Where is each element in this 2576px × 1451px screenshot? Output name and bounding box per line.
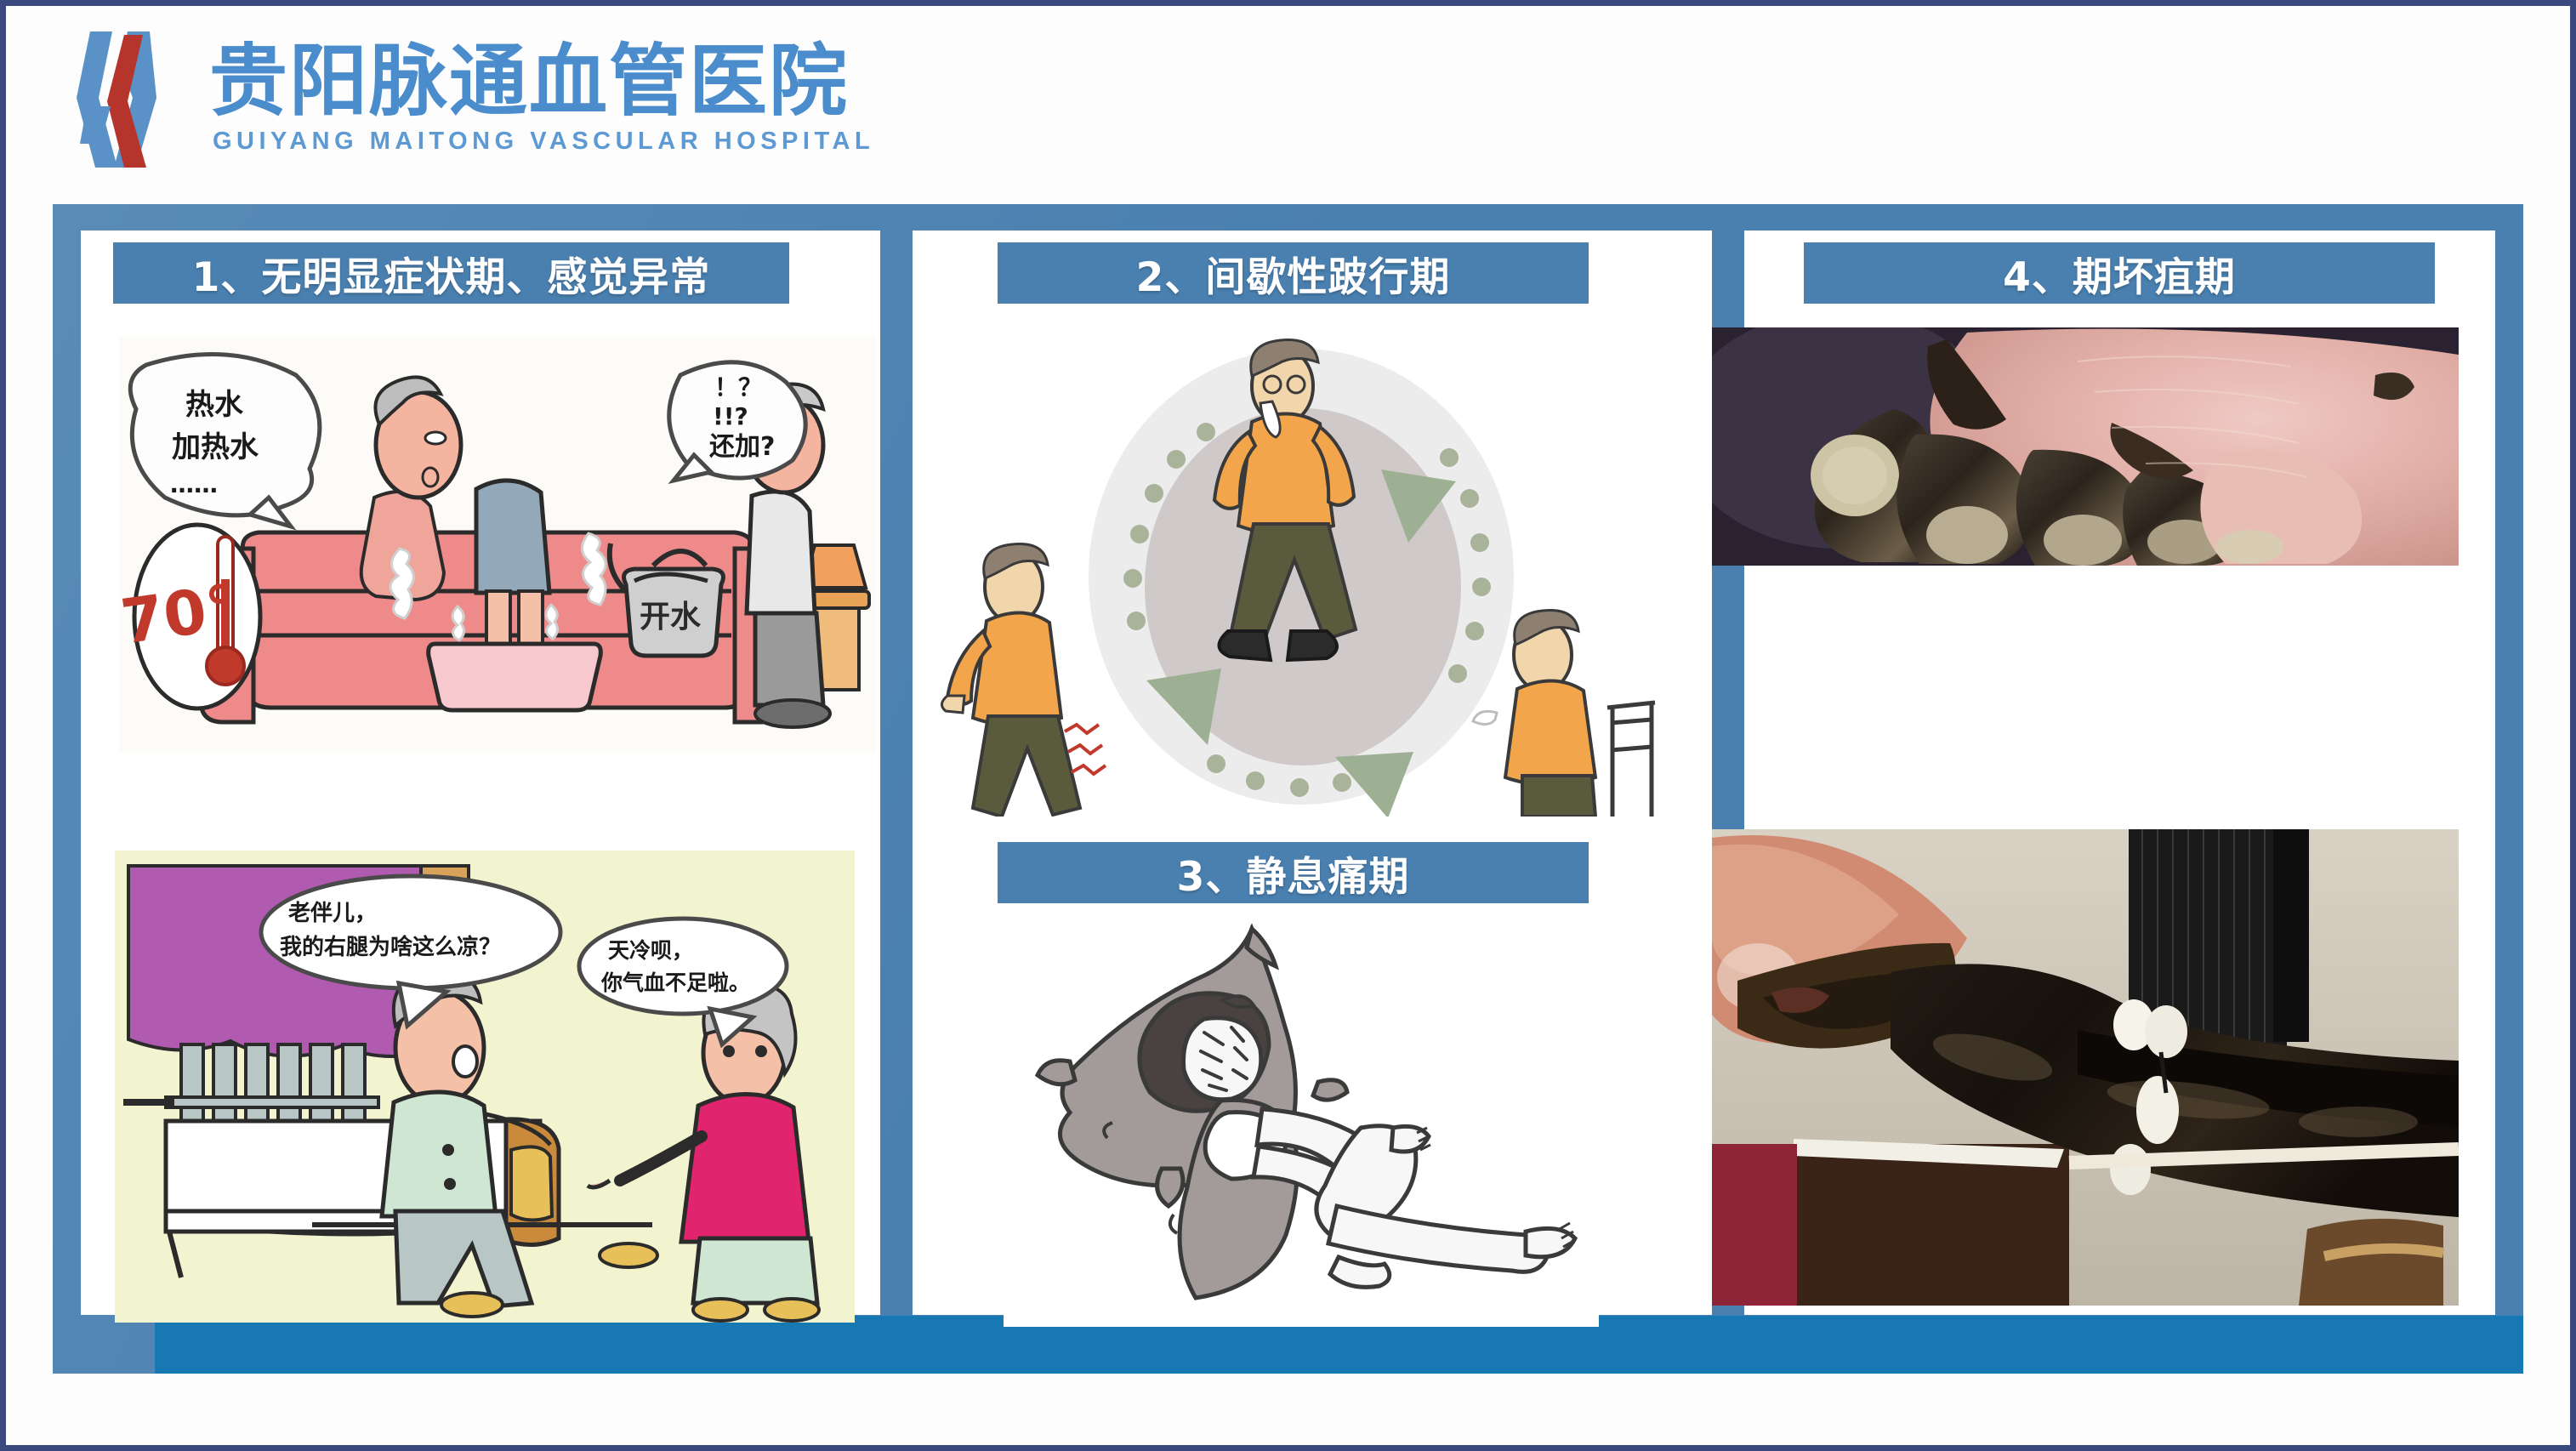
brand-header: 贵阳脉通血管医院 GUIYANG MAITONG VASCULAR HOSPIT… — [0, 0, 2576, 197]
brand-name-en: GUIYANG MAITONG VASCULAR HOSPITAL — [209, 128, 874, 156]
bubble-surprise-line1: ！？ — [714, 373, 762, 401]
bubble-hotwater-line2: 加热水 — [172, 430, 259, 464]
bubble-reply-line1: 天冷呗， — [608, 938, 693, 963]
bubble-surprise-line3: 还加? — [709, 432, 775, 462]
clinical-photo-gangrene-toes — [1712, 327, 2459, 566]
illustration-claudication — [935, 332, 1658, 817]
stage-title-3: 3、静息痛期 — [998, 842, 1589, 903]
hospital-logo-icon — [61, 25, 180, 174]
clinical-photo-gangrene-limb — [1712, 829, 2459, 1306]
brand-name-cn: 贵阳脉通血管医院 — [209, 42, 874, 122]
bubble-reply-line2: 你气血不足啦。 — [600, 970, 750, 995]
illustration-rest-pain — [1004, 919, 1599, 1327]
bubble-hotwater-line1: 热水 — [185, 388, 244, 422]
bubble-surprise-line2: !!? — [713, 402, 748, 430]
illustration-cold-leg: 老伴儿， 我的右腿为啥这么凉？ 天冷呗， 你气血不足啦。 — [115, 851, 855, 1323]
bubble-coldleg-line2: 我的右腿为啥这么凉？ — [280, 934, 501, 960]
bubble-coldleg-line1: 老伴儿， — [288, 901, 377, 926]
illustration-hot-water-soak: 开水 70° 热水 加热水 …… ！？ !!? 还加? — [119, 336, 876, 753]
bubble-hotwater-line3: …… — [170, 470, 218, 498]
stage-title-4: 4、期坏疽期 — [1804, 242, 2435, 304]
stage-title-1: 1、无明显症状期、感觉异常 — [113, 242, 789, 304]
kettle-label: 开水 — [640, 600, 702, 634]
stage-title-2: 2、间歇性跛行期 — [998, 242, 1589, 304]
